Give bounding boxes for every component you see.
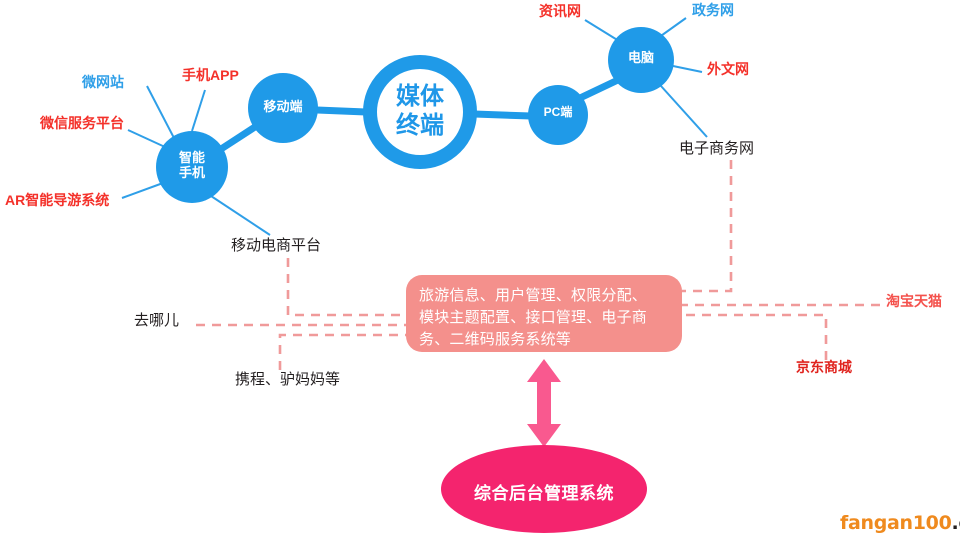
feature-box-line-1: 旅游信息、用户管理、权限分配、 xyxy=(419,285,675,307)
spoke-label-ecommerce-net: 电子商务网 xyxy=(679,141,754,158)
spoke-line-ar-guide xyxy=(122,183,163,198)
dash-jd-mall xyxy=(682,315,826,360)
connector-hub-pc xyxy=(474,114,531,116)
spoke-line-weixin-service xyxy=(128,130,165,147)
node-mobile[interactable] xyxy=(248,73,318,143)
dash-mobile-ec-platform xyxy=(288,258,406,315)
connector-smartphone-mobile xyxy=(218,125,258,151)
feature-box-line-3: 务、二维码服务系统等 xyxy=(419,329,675,351)
dashed-connectors-left xyxy=(196,258,406,370)
spoke-label-news-net: 资讯网 xyxy=(539,4,581,19)
spoke-label-weixin-service: 微信服务平台 xyxy=(40,116,124,131)
bidirectional-arrow xyxy=(527,359,561,447)
feature-box-line-2: 模块主题配置、接口管理、电子商 xyxy=(419,307,675,329)
node-smartphone[interactable] xyxy=(156,131,228,203)
feature-box-text: 旅游信息、用户管理、权限分配、 模块主题配置、接口管理、电子商 务、二维码服务系… xyxy=(419,285,675,350)
connector-mobile-hub xyxy=(317,110,366,112)
watermark-name: fangan100 xyxy=(840,512,952,534)
diagram-canvas: 智能 手机 移动端 PC端 电脑 媒体 终端 微信服务平台 微网站 手机APP … xyxy=(0,0,960,539)
spoke-line-mobile-ec-platform xyxy=(211,196,270,235)
arrow-updown-icon xyxy=(527,359,561,447)
diagram-vector-layer xyxy=(0,0,960,539)
dash-ecommerce-net xyxy=(682,160,731,291)
spoke-line-news-net xyxy=(585,20,619,41)
spoke-label-ar-guide: AR智能导游系统 xyxy=(5,193,109,208)
dashed-label-jd-mall: 京东商城 xyxy=(796,360,852,375)
node-pc-side[interactable] xyxy=(528,85,588,145)
spoke-label-gov-net: 政务网 xyxy=(692,3,734,18)
spoke-line-foreign-net xyxy=(673,66,702,72)
spoke-label-mobile-app: 手机APP xyxy=(182,68,239,83)
backend-ellipse-label: 综合后台管理系统 xyxy=(444,479,644,504)
dashed-label-taobao-tmall: 淘宝天猫 xyxy=(886,294,942,309)
dashed-label-qunar: 去哪儿 xyxy=(134,313,179,330)
dashed-label-ctrip-lvmama: 携程、驴妈妈等 xyxy=(235,372,340,389)
node-computer[interactable] xyxy=(608,27,674,93)
spoke-line-mobile-app xyxy=(192,90,205,131)
spoke-label-mobile-ec-platform: 移动电商平台 xyxy=(231,238,321,255)
node-hub-media-terminal[interactable] xyxy=(370,62,470,162)
connector-pc-computer xyxy=(580,79,620,98)
spoke-line-ecommerce-net xyxy=(661,86,707,137)
dash-ctrip-lvmama xyxy=(280,335,406,370)
watermark-tld: .com xyxy=(952,512,960,534)
dashed-connectors-right xyxy=(682,160,880,360)
spoke-line-wei-website xyxy=(147,86,174,138)
watermark: fangan100.com xyxy=(840,512,960,534)
node-circles xyxy=(156,27,674,203)
spoke-label-wei-website: 微网站 xyxy=(82,75,124,90)
spoke-label-foreign-net: 外文网 xyxy=(707,62,749,77)
